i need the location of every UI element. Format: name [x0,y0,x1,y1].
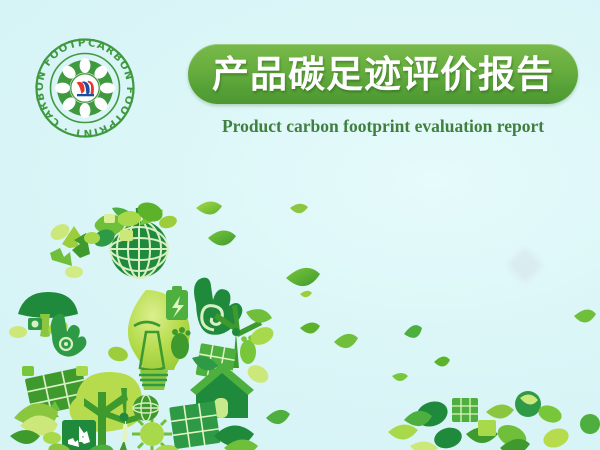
globe-icon-small [133,395,159,421]
battery-icon [166,286,188,320]
cover-header: CARBON FOOTPRINT · CARBON FOOTPRINT · [0,0,600,170]
secondary-footprint-cluster [388,391,600,450]
leaf-bundle-bottom-left [10,403,61,444]
leaf-icon [266,410,290,424]
toe-icons [48,199,178,278]
hand-icon-left [51,314,87,357]
leaf-icon [290,204,308,214]
carbon-footprint-seal-logo: CARBON FOOTPRINT · CARBON FOOTPRINT · [33,36,137,140]
recycle-icon-toe [48,221,100,278]
main-footprint-cluster [9,199,276,450]
footprint-icon-small [171,327,191,359]
eco-footprint-illustration [0,186,600,450]
leaf-icon [404,325,422,338]
leaf-icon [286,268,320,286]
page-subtitle: Product carbon footprint evaluation repo… [188,116,578,137]
leaf-icon [434,356,450,366]
recycle-box-icon [62,420,96,450]
report-title-banner: 产品碳足迹评价报告 [188,44,578,104]
bulb-base [139,370,168,390]
page-title: 产品碳足迹评价报告 [212,56,554,93]
leaf-icon [574,309,596,322]
leaf-icon [196,201,222,214]
solar-panel-icon-bottom [169,401,220,449]
leaf-icon [392,373,408,381]
leaf-icon [208,230,236,245]
leaf-icon [300,291,312,298]
leaf-icon [334,334,358,348]
leaf-icon [300,322,320,333]
report-cover-page: CARBON FOOTPRINT · CARBON FOOTPRINT · [0,0,600,450]
